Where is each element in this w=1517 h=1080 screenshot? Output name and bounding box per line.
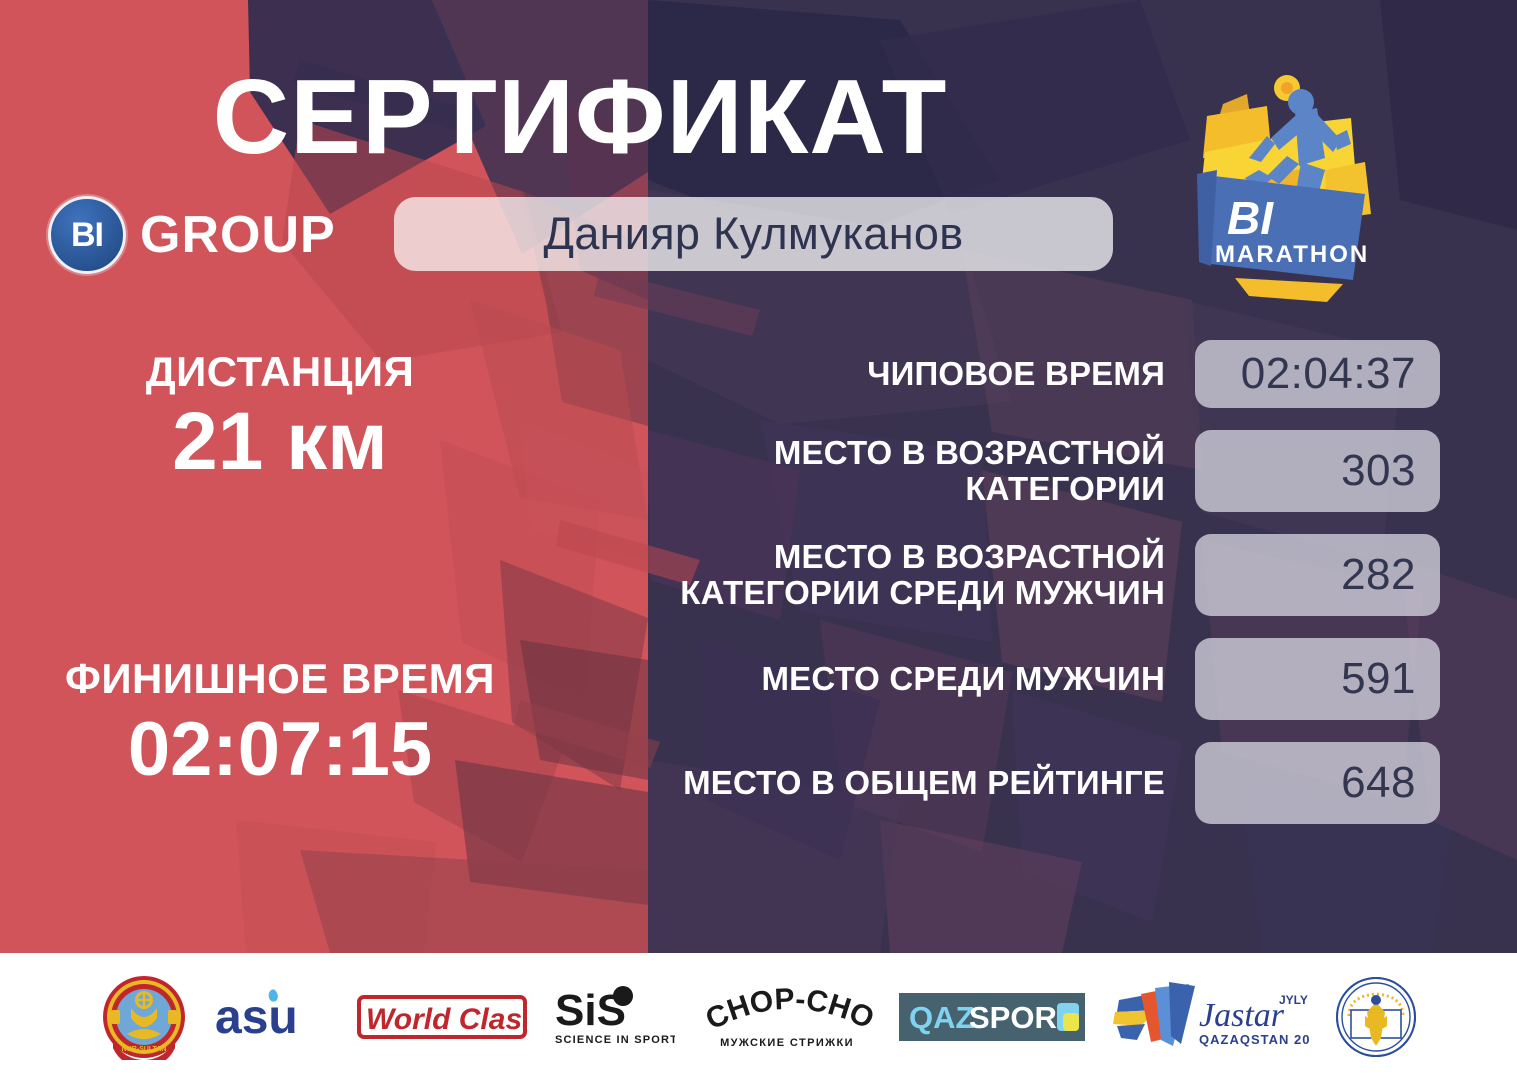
stat-row-overall-place: МЕСТО В ОБЩЕМ РЕЙТИНГЕ 648 (600, 742, 1440, 824)
asu-logo-icon: asu (213, 987, 331, 1047)
ministry-emblem-icon (1335, 976, 1417, 1058)
stat-label: МЕСТО В ОБЩЕМ РЕЙТИНГЕ (600, 765, 1195, 801)
distance-value: 21 км (65, 399, 495, 486)
stat-row-age-category-place: МЕСТО В ВОЗРАСТНОЙ КАТЕГОРИИ 303 (600, 430, 1440, 512)
finish-time-block: ФИНИШНОЕ ВРЕМЯ 02:07:15 (65, 655, 495, 791)
chop-chop-wordmark: CHOP-CHOP (701, 984, 873, 1036)
jastar-tagline: QAZAQSTAN 2019 (1199, 1032, 1309, 1047)
stat-value-pill: 303 (1195, 430, 1440, 512)
sponsor-chop-chop: CHOP-CHOP МУЖСКИЕ СТРИЖКИ (701, 984, 873, 1050)
stat-row-age-category-men-place: МЕСТО В ВОЗРАСТНОЙ КАТЕГОРИИ СРЕДИ МУЖЧИ… (600, 534, 1440, 616)
bi-roundel-icon: BI (48, 196, 126, 274)
jastar-wordmark: Jastar (1199, 997, 1285, 1034)
sis-logo-icon: SiS SCIENCE IN SPORT (553, 985, 675, 1049)
chop-chop-logo-icon: CHOP-CHOP МУЖСКИЕ СТРИЖКИ (701, 984, 873, 1050)
page-title: СЕРТИФИКАТ (0, 62, 1160, 173)
sponsor-sis: SiS SCIENCE IN SPORT (553, 985, 675, 1049)
stat-row-men-place: МЕСТО СРЕДИ МУЖЧИН 591 (600, 638, 1440, 720)
svg-text:MARATHON: MARATHON (1215, 241, 1369, 268)
stat-value-pill: 282 (1195, 534, 1440, 616)
world-class-wordmark: World Class (366, 1003, 527, 1036)
bi-group-logo: BI GROUP (48, 196, 336, 274)
stat-row-chip-time: ЧИПОВОЕ ВРЕМЯ 02:04:37 (600, 340, 1440, 408)
svg-text:BI: BI (1227, 192, 1274, 244)
stat-value: 648 (1341, 758, 1416, 808)
participant-name: Данияр Кулмуканов (544, 208, 964, 260)
stat-value: 02:04:37 (1241, 349, 1416, 399)
jastar-jyly-logo-icon: Jastar JYLY QAZAQSTAN 2019 (1111, 980, 1309, 1054)
sis-tagline: SCIENCE IN SPORT (555, 1034, 675, 1046)
stat-value-pill: 648 (1195, 742, 1440, 824)
sponsor-nur-sultan-emblem: NUR-SULTAN (101, 974, 187, 1060)
nur-sultan-label: NUR-SULTAN (121, 1046, 166, 1053)
chop-chop-tagline: МУЖСКИЕ СТРИЖКИ (720, 1037, 854, 1049)
sponsor-jastar-jyly: Jastar JYLY QAZAQSTAN 2019 (1111, 980, 1309, 1054)
jastar-sup: JYLY (1279, 993, 1308, 1007)
stat-label: МЕСТО В ВОЗРАСТНОЙ КАТЕГОРИИ (600, 435, 1195, 508)
sponsor-world-class: World Class (357, 989, 527, 1045)
certificate-canvas: СЕРТИФИКАТ BI GROUP Данияр Кулмуканов (0, 0, 1517, 1080)
asu-wordmark: asu (215, 991, 298, 1044)
stat-value-pill: 591 (1195, 638, 1440, 720)
bi-group-wordmark: GROUP (140, 205, 336, 265)
stat-label: МЕСТО СРЕДИ МУЖЧИН (600, 661, 1195, 697)
sponsor-ministry-emblem (1335, 976, 1417, 1058)
results-stats-list: ЧИПОВОЕ ВРЕМЯ 02:04:37 МЕСТО В ВОЗРАСТНО… (600, 340, 1440, 846)
stat-value: 282 (1341, 550, 1416, 600)
bi-marathon-badge-icon: BI MARATHON (1175, 66, 1390, 304)
sponsor-qazsport: QAZ SPORT (899, 993, 1085, 1041)
stat-value-pill: 02:04:37 (1195, 340, 1440, 408)
sponsor-bar: NUR-SULTAN asu World Class SiS SCIENCE I… (0, 953, 1517, 1080)
qazsport-logo-icon: QAZ SPORT (899, 993, 1085, 1041)
finish-time-label: ФИНИШНОЕ ВРЕМЯ (65, 655, 495, 702)
stat-label: ЧИПОВОЕ ВРЕМЯ (600, 356, 1195, 392)
bi-roundel-label: BI (71, 216, 103, 255)
bi-marathon-logo: BI MARATHON (1175, 66, 1390, 304)
sponsor-asu: asu (213, 987, 331, 1047)
world-class-logo-icon: World Class (357, 989, 527, 1045)
finish-time-value: 02:07:15 (65, 710, 495, 791)
nur-sultan-emblem-icon: NUR-SULTAN (101, 974, 187, 1060)
stat-value: 591 (1341, 654, 1416, 704)
stat-value: 303 (1341, 446, 1416, 496)
stat-label: МЕСТО В ВОЗРАСТНОЙ КАТЕГОРИИ СРЕДИ МУЖЧИ… (600, 539, 1195, 612)
distance-block: ДИСТАНЦИЯ 21 км (65, 348, 495, 486)
distance-label: ДИСТАНЦИЯ (65, 348, 495, 395)
qazsport-qaz: QAZ (909, 1000, 975, 1035)
participant-name-plate: Данияр Кулмуканов (394, 197, 1113, 271)
